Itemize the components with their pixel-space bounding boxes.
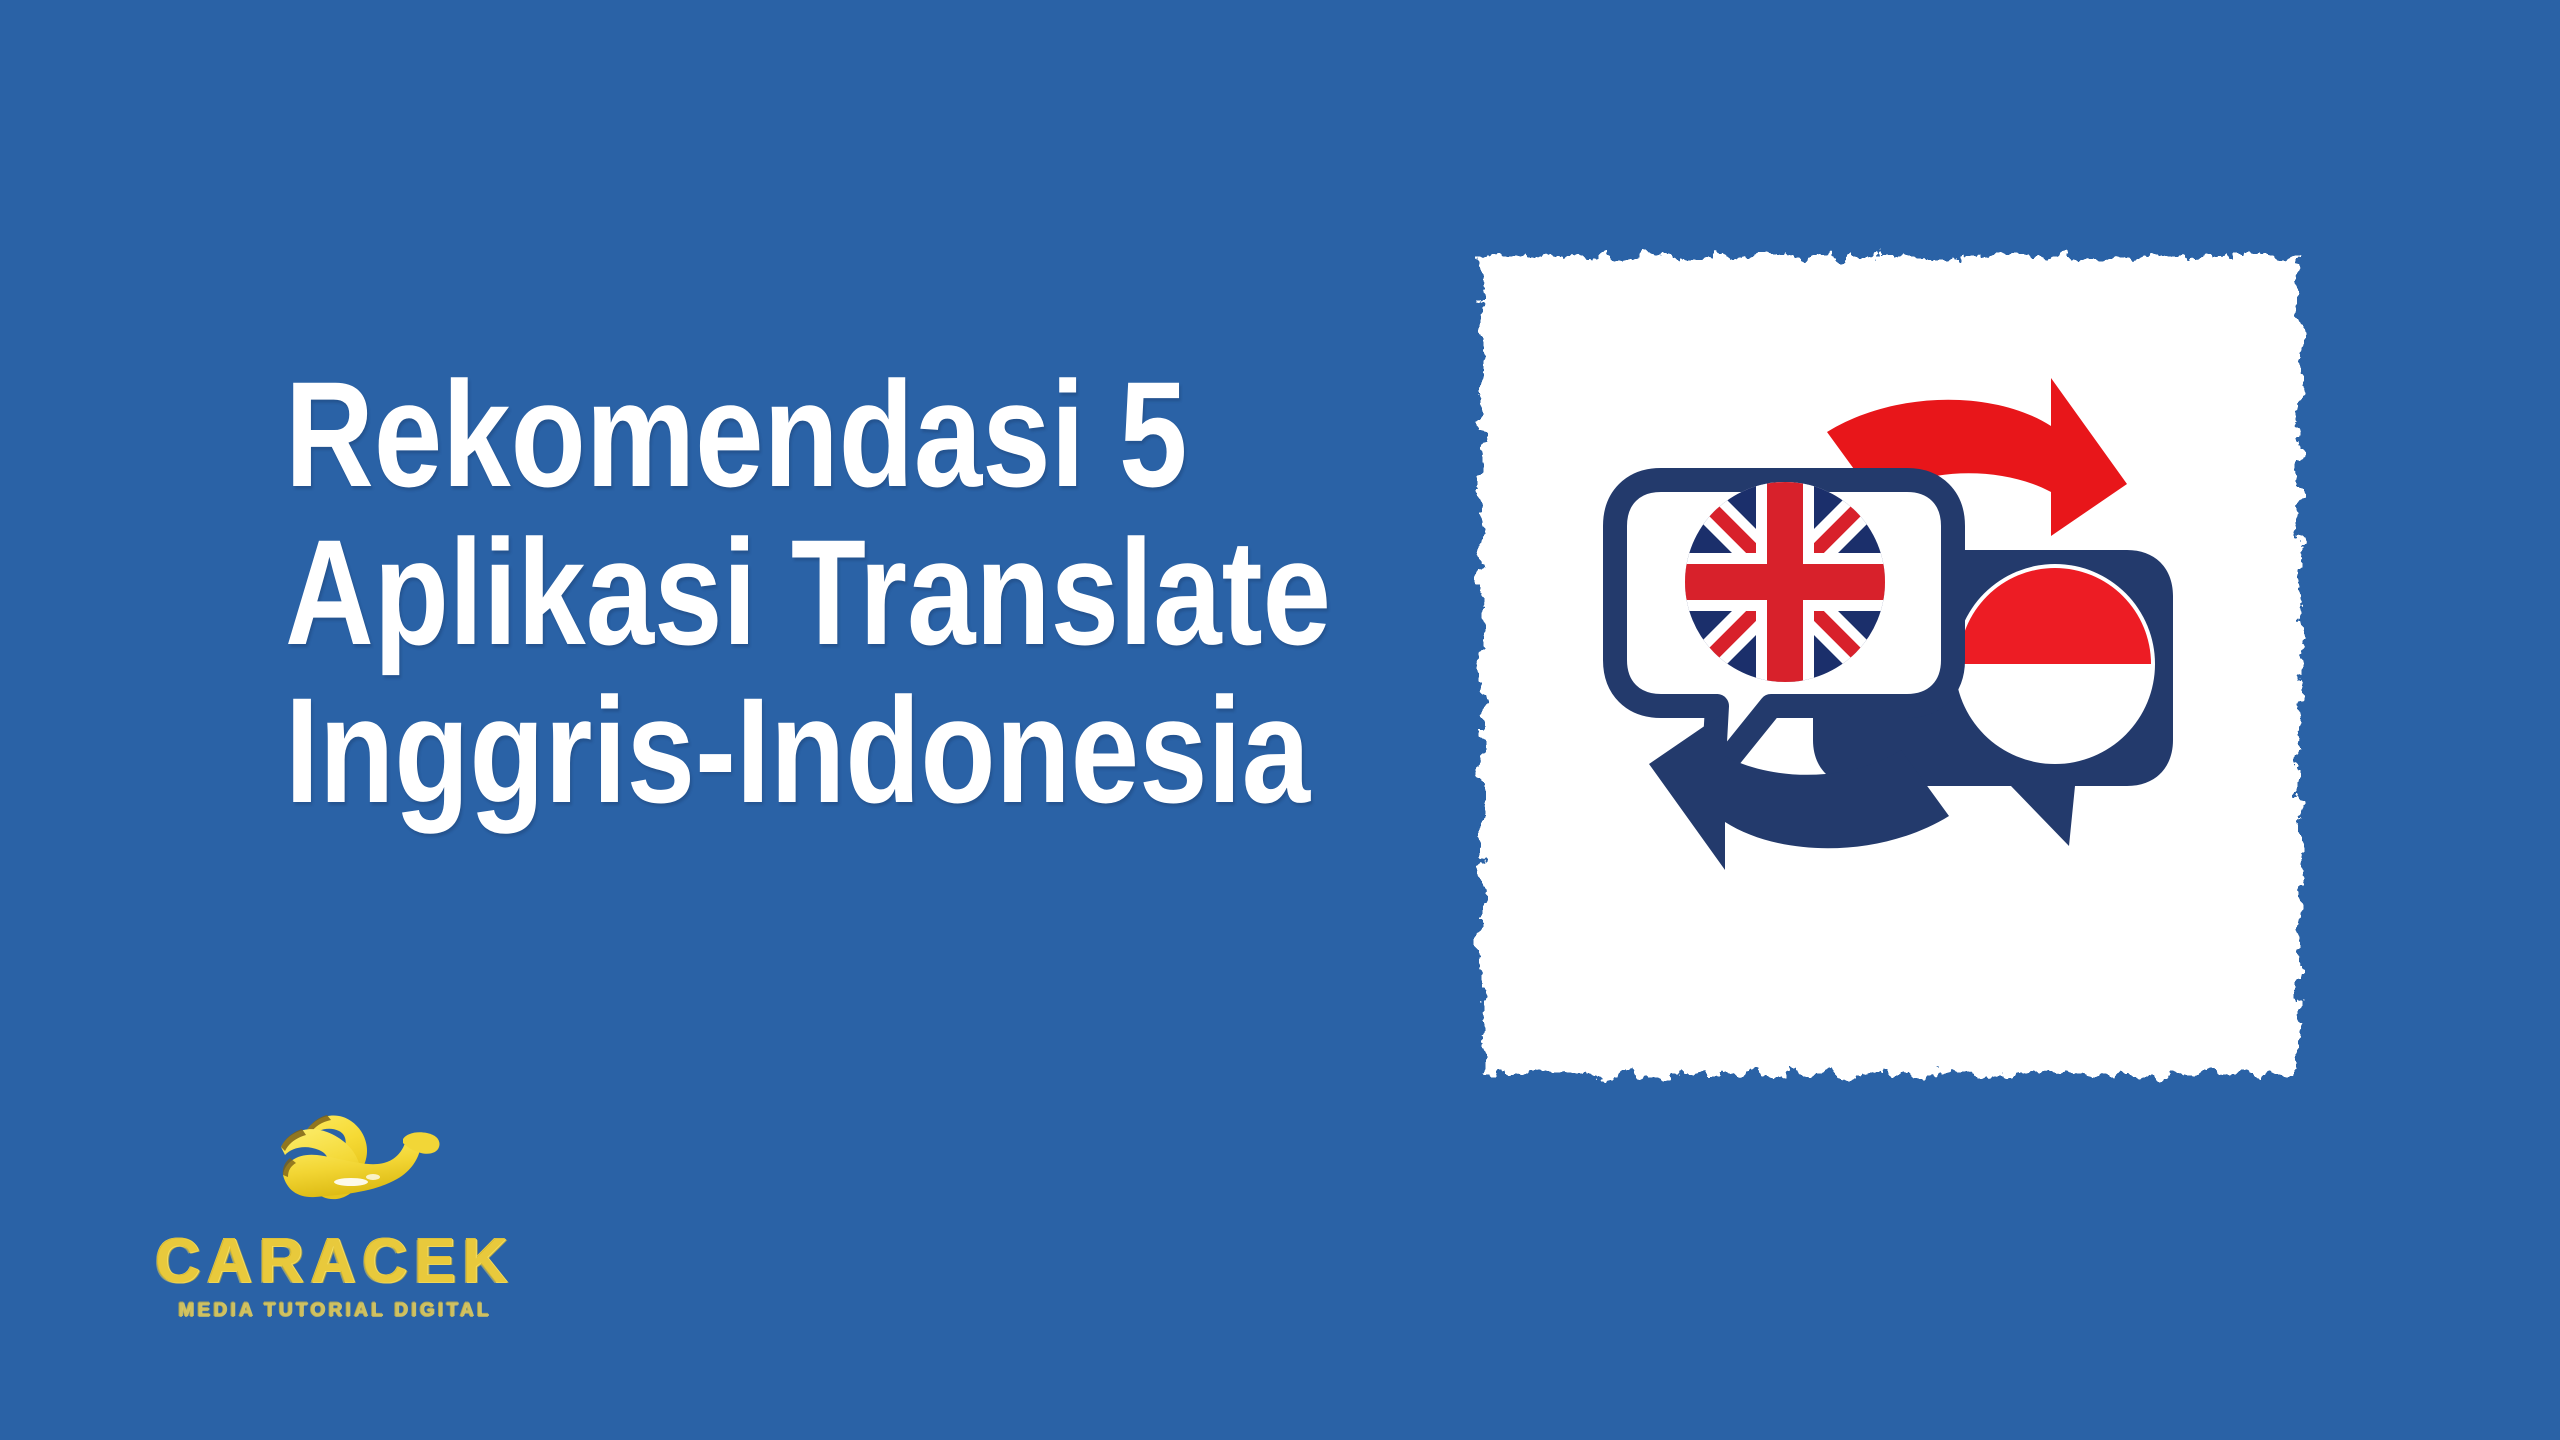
thumbnail-canvas: Rekomendasi 5 Aplikasi Translate Inggris…	[0, 0, 2560, 1440]
title-line-3: Inggris-Indonesia	[285, 671, 1154, 829]
title-line-1: Rekomendasi 5	[285, 355, 1154, 513]
translate-speech-bubbles-illustration	[1455, 230, 2325, 1100]
title-line-2: Aplikasi Translate	[285, 513, 1154, 671]
united-kingdom-flag-circle	[1685, 482, 1885, 682]
page-title: Rekomendasi 5 Aplikasi Translate Inggris…	[285, 355, 1345, 829]
logo-wordmark: CARACEK	[140, 1231, 530, 1293]
brand-logo: CARACEK MEDIA TUTORIAL DIGITAL	[140, 1105, 530, 1365]
logo-tagline: MEDIA TUTORIAL DIGITAL	[140, 1301, 530, 1320]
indonesia-flag-circle	[1955, 564, 2155, 764]
banana-bunch-icon	[255, 1105, 445, 1235]
